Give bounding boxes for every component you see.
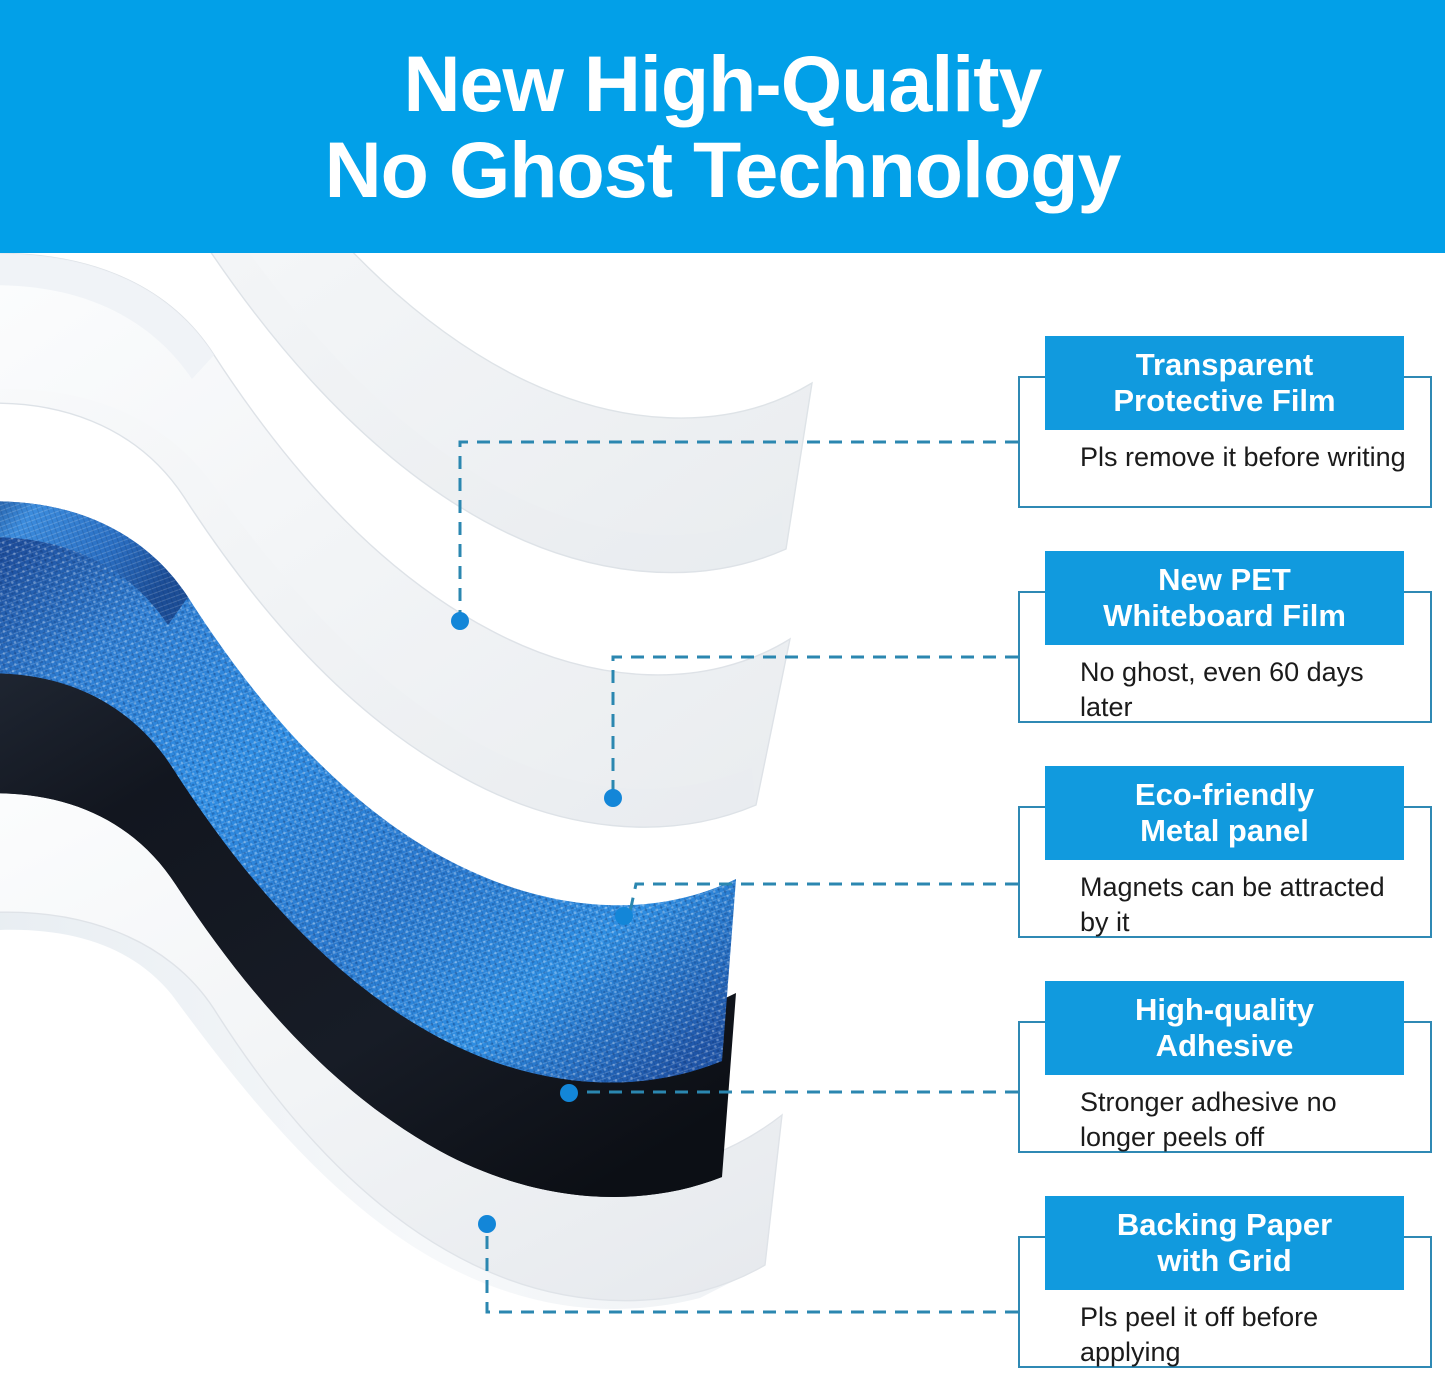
callout-title-line1: New PET	[1158, 562, 1291, 598]
callout-description: Pls peel it off before applying	[1080, 1300, 1410, 1369]
callout-title-band: Eco-friendly Metal panel	[1045, 766, 1404, 860]
callout-description: Stronger adhesive no longer peels off	[1080, 1085, 1410, 1154]
callout-title-line2: with Grid	[1157, 1243, 1291, 1279]
callout-title-band: New PET Whiteboard Film	[1045, 551, 1404, 645]
header-title-line1: New High-Quality	[404, 42, 1042, 126]
callout-title-line1: Transparent	[1136, 347, 1313, 383]
callout-title-line2: Protective Film	[1113, 383, 1335, 419]
layer-stack-illustration	[0, 253, 820, 1379]
callout-title-line2: Whiteboard Film	[1103, 598, 1346, 634]
callout-title-line2: Metal panel	[1140, 813, 1309, 849]
header-title-line2: No Ghost Technology	[325, 128, 1121, 212]
header-banner: New High-Quality No Ghost Technology	[0, 0, 1445, 253]
infographic-page: New High-Quality No Ghost Technology	[0, 0, 1445, 1379]
callout-title-line1: Backing Paper	[1117, 1207, 1332, 1243]
callout-description: Pls remove it before writing	[1080, 440, 1410, 475]
callout-description: Magnets can be attracted by it	[1080, 870, 1410, 939]
callout-title-line1: High-quality	[1135, 992, 1314, 1028]
callout-title-band: High-quality Adhesive	[1045, 981, 1404, 1075]
callout-title-band: Transparent Protective Film	[1045, 336, 1404, 430]
callout-description: No ghost, even 60 days later	[1080, 655, 1410, 724]
callout-title-line2: Adhesive	[1156, 1028, 1294, 1064]
callout-title-band: Backing Paper with Grid	[1045, 1196, 1404, 1290]
callout-title-line1: Eco-friendly	[1135, 777, 1314, 813]
